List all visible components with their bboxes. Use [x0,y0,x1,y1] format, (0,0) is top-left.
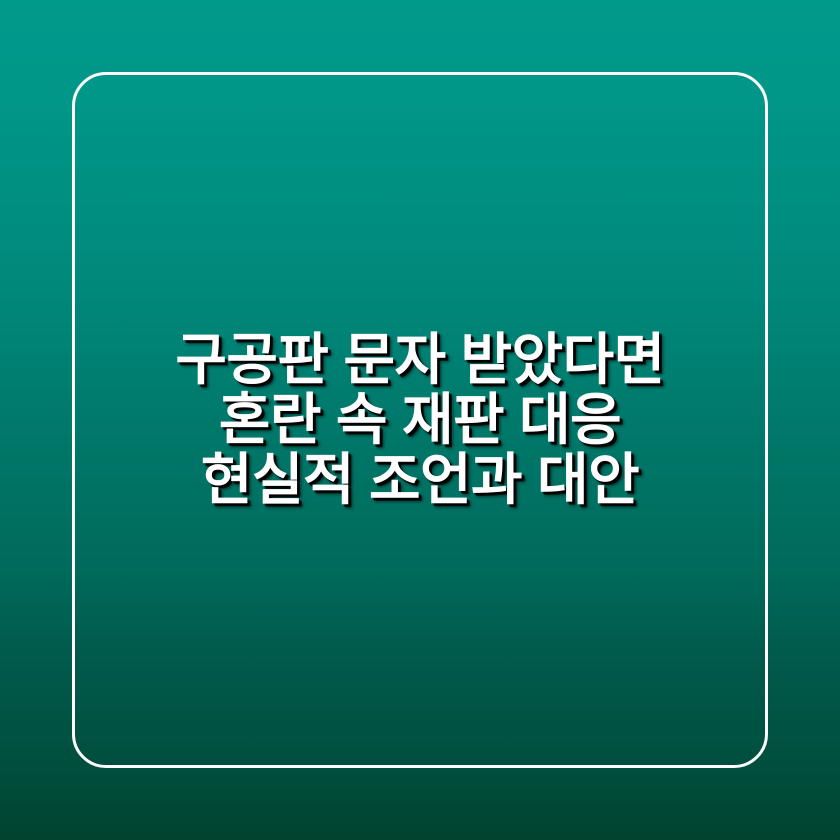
title-line-1: 구공판 문자 받았다면 [0,330,840,390]
title-line-2: 혼란 속 재판 대응 [0,390,840,450]
poster-canvas: 구공판 문자 받았다면 혼란 속 재판 대응 현실적 조언과 대안 [0,0,840,840]
title-line-3: 현실적 조언과 대안 [0,450,840,510]
title-block: 구공판 문자 받았다면 혼란 속 재판 대응 현실적 조언과 대안 [0,330,840,510]
